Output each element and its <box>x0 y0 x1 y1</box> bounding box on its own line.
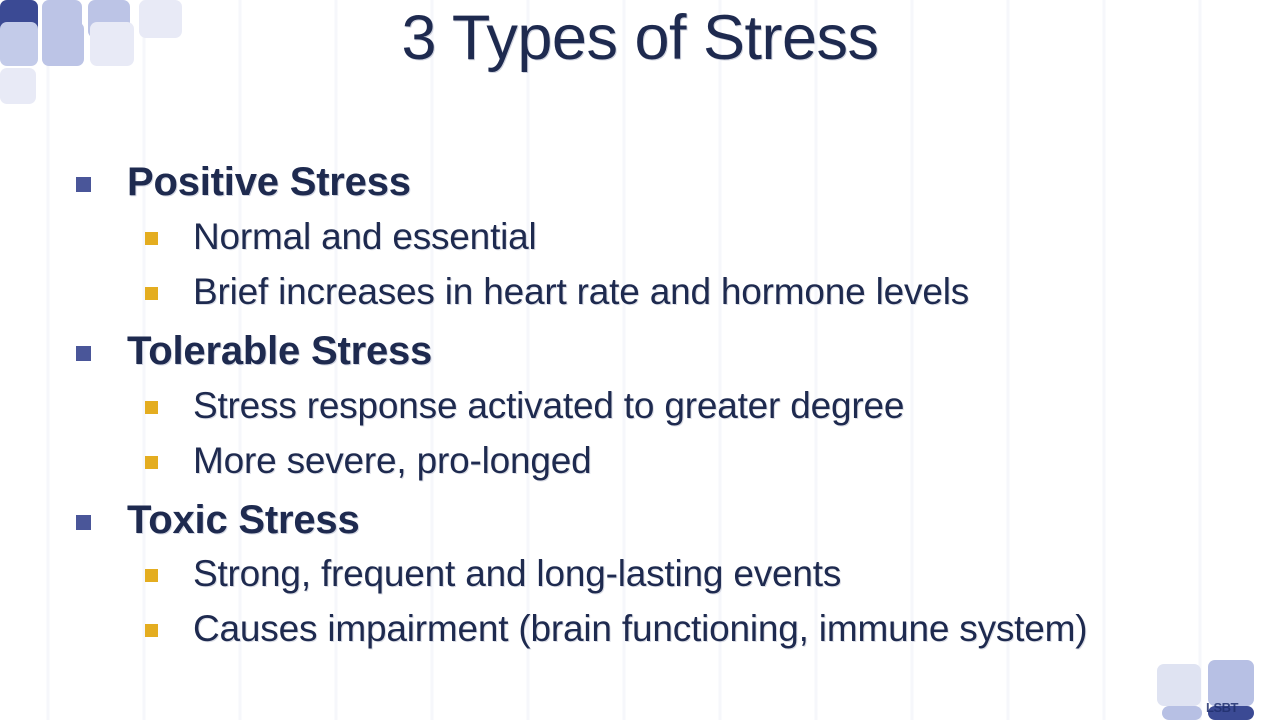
bullet-square-gold-icon <box>145 456 158 469</box>
bullet-level1: Tolerable Stress <box>62 325 1242 378</box>
page-title: 3 Types of Stress <box>0 6 1280 70</box>
bullet-level2-label: More severe, pro-longed <box>193 434 592 488</box>
bullet-square-blue-icon <box>76 515 91 530</box>
bullet-level2-label: Stress response activated to greater deg… <box>193 379 904 433</box>
bullet-group: Positive StressNormal and essentialBrief… <box>62 156 1242 319</box>
bullet-level2-label: Strong, frequent and long-lasting events <box>193 547 841 601</box>
bullet-level2: Brief increases in heart rate and hormon… <box>62 265 1242 319</box>
presentation-slide: 3 Types of Stress Positive StressNormal … <box>0 0 1280 720</box>
bullet-level2-label: Normal and essential <box>193 210 537 264</box>
decorative-square <box>1162 706 1202 720</box>
bullet-level1: Toxic Stress <box>62 494 1242 547</box>
bullet-square-gold-icon <box>145 624 158 637</box>
bullet-level1-label: Tolerable Stress <box>127 325 432 378</box>
bullet-square-blue-icon <box>76 346 91 361</box>
bullet-level2: Causes impairment (brain functioning, im… <box>62 602 1242 656</box>
bullet-level2-label: Brief increases in heart rate and hormon… <box>193 265 969 319</box>
corner-watermark: LSBT <box>1206 700 1238 715</box>
bullet-level2-label: Causes impairment (brain functioning, im… <box>193 602 1087 656</box>
bullet-level1-label: Toxic Stress <box>127 494 360 547</box>
bullet-square-gold-icon <box>145 401 158 414</box>
decorative-square <box>0 68 36 104</box>
bullet-level1: Positive Stress <box>62 156 1242 209</box>
bullet-level2: Stress response activated to greater deg… <box>62 379 1242 433</box>
bullet-square-blue-icon <box>76 177 91 192</box>
bullet-level2: Normal and essential <box>62 210 1242 264</box>
bullet-level2: More severe, pro-longed <box>62 434 1242 488</box>
bullet-square-gold-icon <box>145 287 158 300</box>
bullet-level2: Strong, frequent and long-lasting events <box>62 547 1242 601</box>
bullet-group: Toxic StressStrong, frequent and long-la… <box>62 494 1242 657</box>
slide-body: Positive StressNormal and essentialBrief… <box>62 150 1242 658</box>
bullet-level1-label: Positive Stress <box>127 156 411 209</box>
bullet-square-gold-icon <box>145 569 158 582</box>
decorative-square <box>1157 664 1201 706</box>
bullet-square-gold-icon <box>145 232 158 245</box>
bullet-group: Tolerable StressStress response activate… <box>62 325 1242 488</box>
